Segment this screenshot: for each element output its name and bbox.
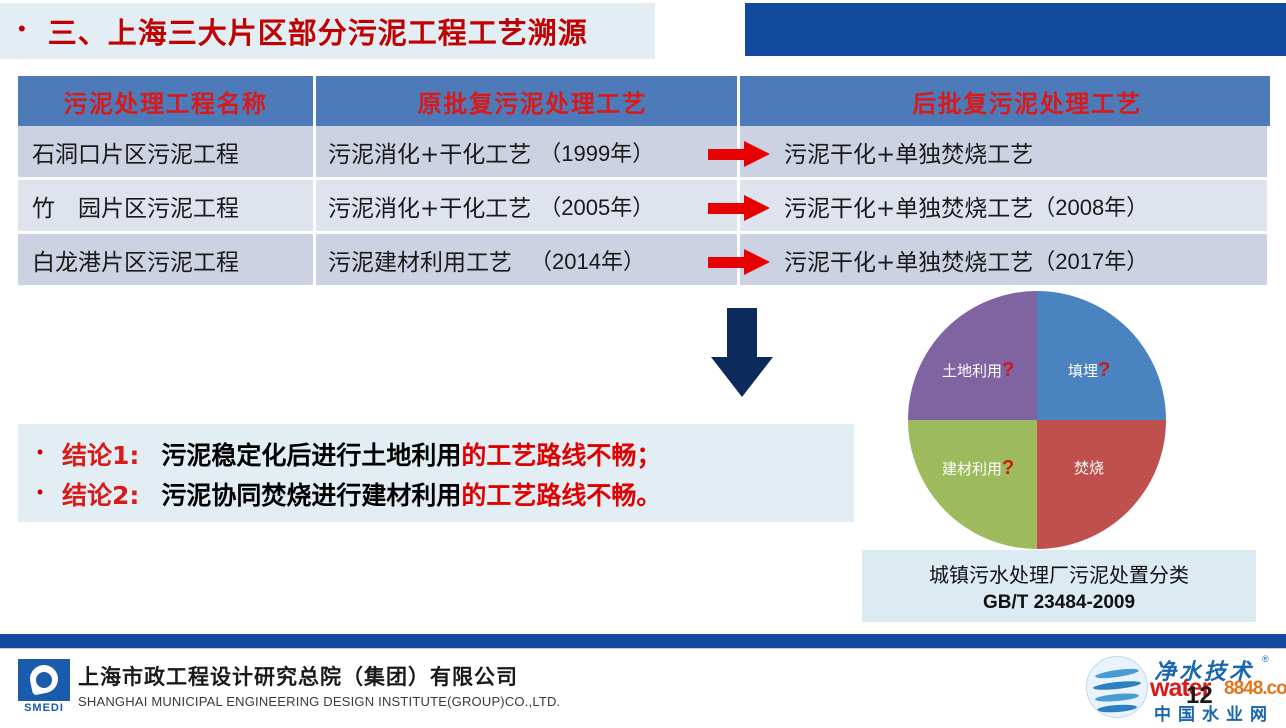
disposal-pie-chart: 土地利用? 填埋? 建材利用? 焚烧	[908, 291, 1166, 549]
conclusion-label: 结论1:	[62, 436, 139, 472]
new-process-text: 污泥干化+单独焚烧工艺	[784, 243, 1033, 277]
conclusion-bullet-icon: •	[18, 482, 62, 503]
company-name-cn: 上海市政工程设计研究总院（集团）有限公司	[78, 661, 518, 691]
pie-label-text: 建材利用	[942, 460, 1002, 478]
page-title: 三、上海三大片区部分污泥工程工艺溯源	[48, 10, 588, 52]
cell-project-name: 石洞口片区污泥工程	[18, 126, 316, 180]
slide-canvas: • 三、上海三大片区部分污泥工程工艺溯源 污泥处理工程名称 原批复污泥处理工艺 …	[0, 0, 1286, 728]
slide-title-band: • 三、上海三大片区部分污泥工程工艺溯源	[0, 3, 655, 59]
pie-label-incineration: 焚烧	[1074, 457, 1104, 478]
registered-trademark-icon: ®	[1262, 654, 1269, 664]
cell-new-process: 污泥干化+单独焚烧工艺 （2017年）	[740, 234, 1270, 288]
header-blue-bar	[745, 3, 1286, 56]
water-waves-icon	[1086, 656, 1148, 718]
pie-slice-building-material	[908, 420, 1037, 549]
conclusion-label: 结论2:	[62, 476, 139, 512]
pie-caption-standard: GB/T 23484-2009	[862, 592, 1256, 614]
conclusion-text-black: 污泥协同焚烧进行建材利用	[161, 476, 461, 512]
cell-new-process: 污泥干化+单独焚烧工艺 （2008年）	[740, 180, 1270, 234]
old-process-year: （2014年）	[530, 244, 645, 276]
conclusion-item: • 结论2: 污泥协同焚烧进行建材利用 的工艺路线不畅。	[18, 474, 854, 514]
watermark-site-cn: 中国水业网	[1154, 700, 1274, 725]
table-header-row: 污泥处理工程名称 原批复污泥处理工艺 后批复污泥处理工艺	[18, 76, 1270, 126]
pie-label-landfill: 填埋?	[1068, 359, 1110, 382]
pie-label-text: 填埋	[1068, 362, 1098, 380]
pie-label-land-use: 土地利用?	[942, 359, 1014, 382]
smedi-logo-icon: SMEDI	[18, 659, 70, 715]
conclusion-item: • 结论1: 污泥稳定化后进行土地利用 的工艺路线不畅；	[18, 434, 854, 474]
footer-divider	[0, 634, 1286, 648]
conclusion-text-black: 污泥稳定化后进行土地利用	[161, 436, 461, 472]
new-process-year: （2008年）	[1033, 190, 1148, 222]
conclusion-text-red: 的工艺路线不畅。	[461, 476, 661, 512]
pie-body	[908, 291, 1166, 549]
conclusion-text-red: 的工艺路线不畅；	[461, 436, 661, 472]
pie-label-text: 土地利用	[942, 362, 1002, 380]
old-process-year: （1999年）	[539, 136, 654, 168]
company-name-en: SHANGHAI MUNICIPAL ENGINEERING DESIGN IN…	[78, 694, 560, 709]
old-process-text: 污泥消化+干化工艺	[328, 189, 531, 223]
down-arrow-icon	[711, 308, 773, 396]
pie-slice-incineration	[1037, 420, 1166, 549]
cell-old-process: 污泥建材利用工艺 （2014年）	[316, 234, 740, 288]
question-mark-icon: ?	[1002, 457, 1014, 479]
new-process-year: （2017年）	[1033, 244, 1148, 276]
old-process-text: 污泥消化+干化工艺	[328, 135, 531, 169]
table-header-name: 污泥处理工程名称	[18, 76, 316, 126]
cell-old-process: 污泥消化+干化工艺 （1999年）	[316, 126, 740, 180]
title-bullet-icon: •	[18, 18, 26, 40]
pie-caption-title: 城镇污水处理厂污泥处置分类	[862, 559, 1256, 588]
table-header-new-process: 后批复污泥处理工艺	[740, 76, 1270, 126]
conclusions-box: • 结论1: 污泥稳定化后进行土地利用 的工艺路线不畅； • 结论2: 污泥协同…	[18, 424, 854, 522]
pie-slice-landfill	[1037, 291, 1166, 420]
process-table: 污泥处理工程名称 原批复污泥处理工艺 后批复污泥处理工艺 石洞口片区污泥工程 污…	[18, 76, 1270, 288]
pie-slice-land-use	[908, 291, 1037, 420]
question-mark-icon: ?	[1002, 359, 1014, 381]
question-mark-icon: ?	[1098, 359, 1110, 381]
table-header-old-process: 原批复污泥处理工艺	[316, 76, 740, 126]
table-row: 竹 园片区污泥工程 污泥消化+干化工艺 （2005年） 污泥干化+单独焚烧工艺 …	[18, 180, 1270, 234]
watermark-logo: 净水技术 ® water 8848.com 中国水业网	[1086, 652, 1282, 722]
old-process-year: （2005年）	[539, 190, 654, 222]
pie-caption-box: 城镇污水处理厂污泥处置分类 GB/T 23484-2009	[862, 550, 1256, 622]
cell-project-name: 白龙港片区污泥工程	[18, 234, 316, 288]
pie-label-building-material: 建材利用?	[942, 457, 1014, 480]
cell-old-process: 污泥消化+干化工艺 （2005年）	[316, 180, 740, 234]
table-row: 白龙港片区污泥工程 污泥建材利用工艺 （2014年） 污泥干化+单独焚烧工艺 （…	[18, 234, 1270, 288]
pie-label-text: 焚烧	[1074, 459, 1104, 477]
cell-new-process: 污泥干化+单独焚烧工艺	[740, 126, 1270, 180]
conclusion-bullet-icon: •	[18, 442, 62, 463]
table-row: 石洞口片区污泥工程 污泥消化+干化工艺 （1999年） 污泥干化+单独焚烧工艺	[18, 126, 1270, 180]
new-process-text: 污泥干化+单独焚烧工艺	[784, 189, 1033, 223]
cell-project-name: 竹 园片区污泥工程	[18, 180, 316, 234]
watermark-domain-text: 8848.com	[1224, 678, 1286, 700]
smedi-logo-wordmark: SMEDI	[18, 702, 70, 714]
page-number: 12	[1186, 682, 1213, 710]
old-process-text: 污泥建材利用工艺	[328, 243, 512, 277]
new-process-text: 污泥干化+单独焚烧工艺	[784, 135, 1033, 169]
